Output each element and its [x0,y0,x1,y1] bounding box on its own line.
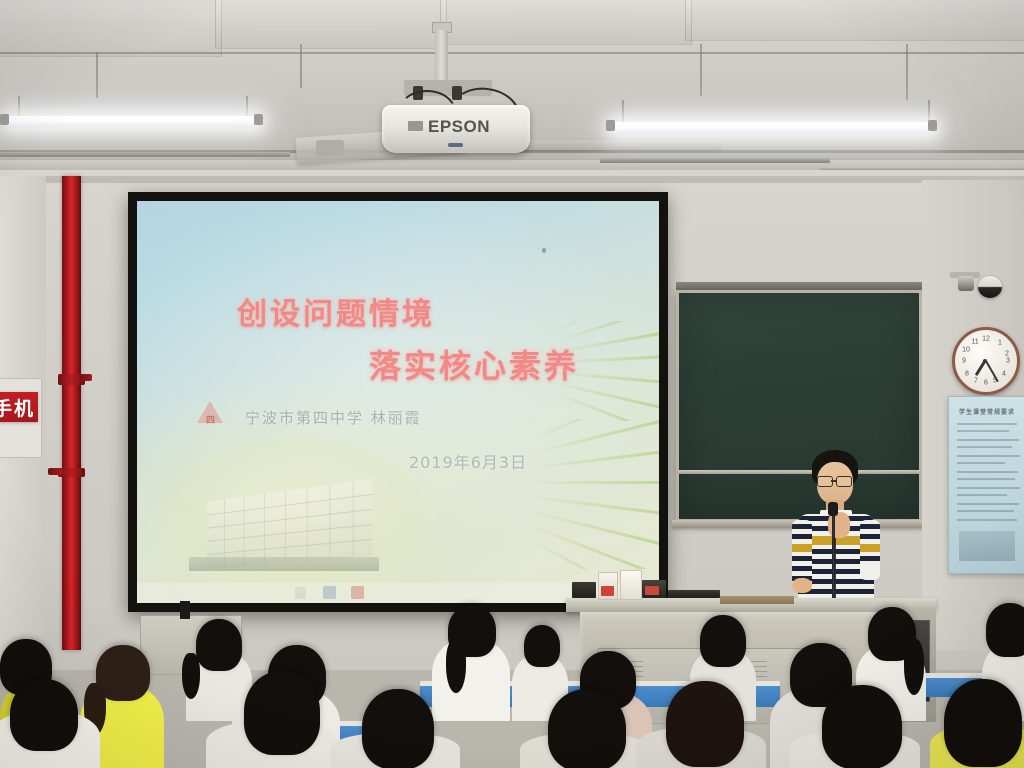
light-hanger-rod [622,100,624,124]
banner-text: 禁止玩手机 [0,394,38,421]
slide-title-line2: 落实核心素养 [369,341,579,387]
microphone-head [828,502,838,516]
student-ponytail [446,639,466,693]
student-head [524,625,560,667]
pipe-collar [58,468,85,477]
poster-title: 学生课堂常规要求 [949,407,1024,416]
projector-brand-label: EPSON [428,117,490,137]
clock-number: 9 [962,358,966,365]
clock-number: 8 [965,371,969,378]
pipe-valve [48,468,62,475]
student-ponytail [904,639,924,695]
light-hanger-rod [246,96,248,118]
clock-number: 7 [974,378,978,385]
student-head [944,679,1022,767]
light-hanger-rod [18,96,20,118]
clock-number: 1 [998,340,1002,347]
student-head [244,671,320,755]
presenter-right-arm [860,520,880,580]
student-head [700,615,746,667]
classroom-rules-poster: 学生课堂常规要求 [948,396,1024,574]
fire-standpipe [62,176,81,650]
clock-number: 12 [982,336,990,343]
clock-number: 4 [1002,371,1006,378]
clock-number: 11 [971,339,978,346]
student-head [822,685,902,768]
no-phone-banner: 禁止玩手机 [0,392,38,422]
presenter-left-hand [792,578,812,593]
student-head [666,681,744,767]
leaf-decoration [523,419,659,569]
student-head [986,603,1024,657]
student-head [196,619,242,671]
eyeglasses-bridge [831,480,836,482]
clock-number: 3 [1006,358,1010,365]
projection-screen[interactable]: 创设问题情境 落实核心素养 四 宁波市第四中学 林丽霞 2019年6月3日 [128,192,668,612]
poster-photo [959,531,1015,561]
slide-subtitle: 宁波市第四中学 林丽霞 [245,407,422,428]
ceiling: EPSON [0,0,1024,182]
audience-area [0,593,1024,768]
camera-housing [958,276,974,291]
clock-number: 6 [984,380,988,387]
student-head [362,689,434,768]
projector-lens [448,143,463,147]
student-head [10,679,78,751]
school-emblem-text: 四 [206,413,215,426]
ceiling-fan-hub [316,140,344,156]
projector: EPSON [382,105,530,153]
slide-surface: 创设问题情境 落实核心素养 四 宁波市第四中学 林丽霞 2019年6月3日 [137,201,659,603]
student-ponytail [182,653,200,699]
classroom-scene: EPSON 禁止玩手机 [0,0,1024,768]
eyeglasses [836,476,852,487]
pipe-valve [80,374,92,381]
microphone-stand [832,510,835,606]
projector-mount-pole [435,30,448,82]
clock-number: 10 [962,347,970,354]
screen-speck [542,248,546,253]
eyeglasses [817,476,833,487]
slide-building [189,483,377,569]
clock-center-pin [983,359,987,363]
slide-date: 2019年6月3日 [409,449,527,473]
student-head [548,689,626,768]
slide-title-line1: 创设问题情境 [237,289,435,333]
dome-security-camera[interactable] [978,276,1002,298]
epson-logo [408,121,423,131]
clock-number: 2 [1005,351,1009,358]
wall-clock: 12 1 2 3 4 5 6 7 8 9 10 11 [952,327,1020,395]
fluorescent-light-right [612,122,934,134]
fluorescent-light-left [6,116,260,127]
wall-cabinet-slot [180,601,190,619]
